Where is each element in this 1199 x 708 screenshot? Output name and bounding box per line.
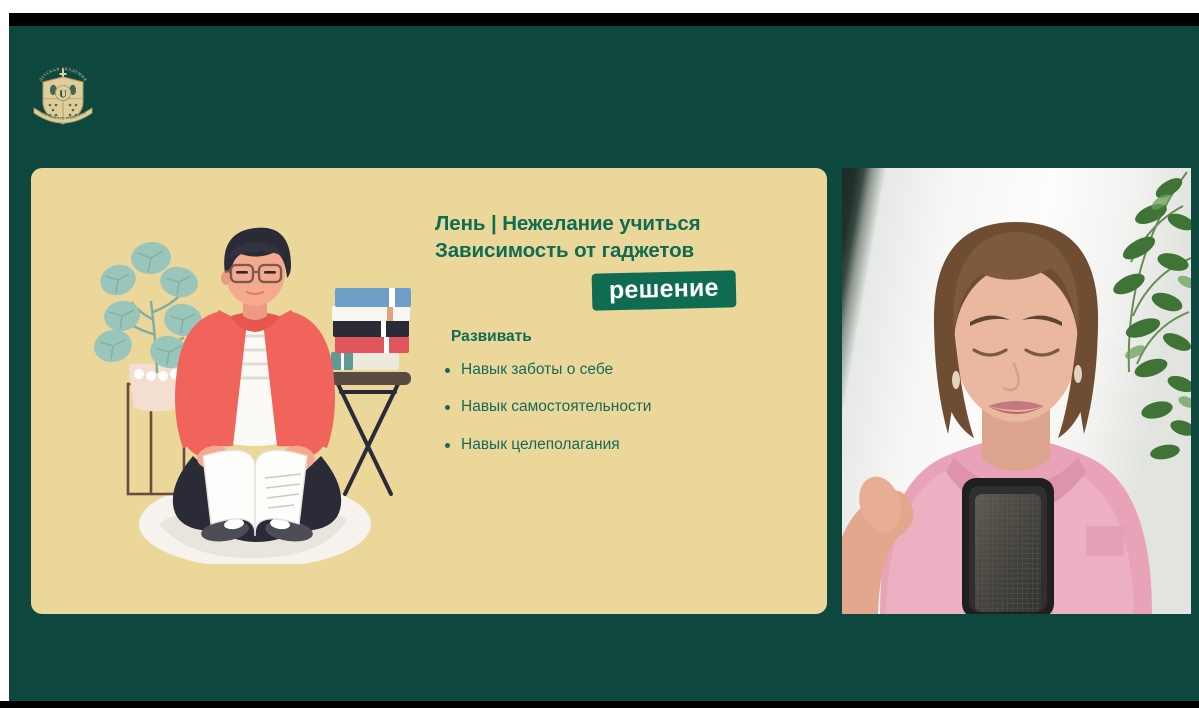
presenter-figure [842,168,1191,614]
presenter-video-panel[interactable] [842,168,1191,614]
list-item: Навык самостоятельности [435,399,807,415]
solution-badge: решение [592,270,737,310]
book-stack [331,288,411,370]
microphone [962,478,1054,614]
letterbox-bar-bottom [0,701,1199,708]
badge-container: решение [435,270,807,314]
slide-title-line2: Зависимость от гаджетов [435,237,807,264]
academy-logo: ДЕТСКАЯ АКАДЕМИЯ [31,62,95,128]
slide-card[interactable]: Лень | Нежелание учиться Зависимость от … [31,168,827,614]
side-table [329,372,411,494]
monogram-u: U [55,85,70,100]
list-item: Навык заботы о себе [435,362,807,378]
svg-text:U: U [59,89,67,100]
letterbox-bar-top [9,13,1199,26]
skills-bullet-list: Навык заботы о себе Навык самостоятельно… [435,362,807,453]
person-reading-illustration [89,224,419,564]
presentation-stage: ДЕТСКАЯ АКАДЕМИЯ [9,26,1199,703]
slide-text-block: Лень | Нежелание учиться Зависимость от … [435,210,807,474]
slide-title-line1: Лень | Нежелание учиться [435,210,807,237]
list-item: Навык целеполагания [435,437,807,453]
slide-subheading: Развивать [451,328,807,346]
screen: ДЕТСКАЯ АКАДЕМИЯ [0,0,1199,708]
